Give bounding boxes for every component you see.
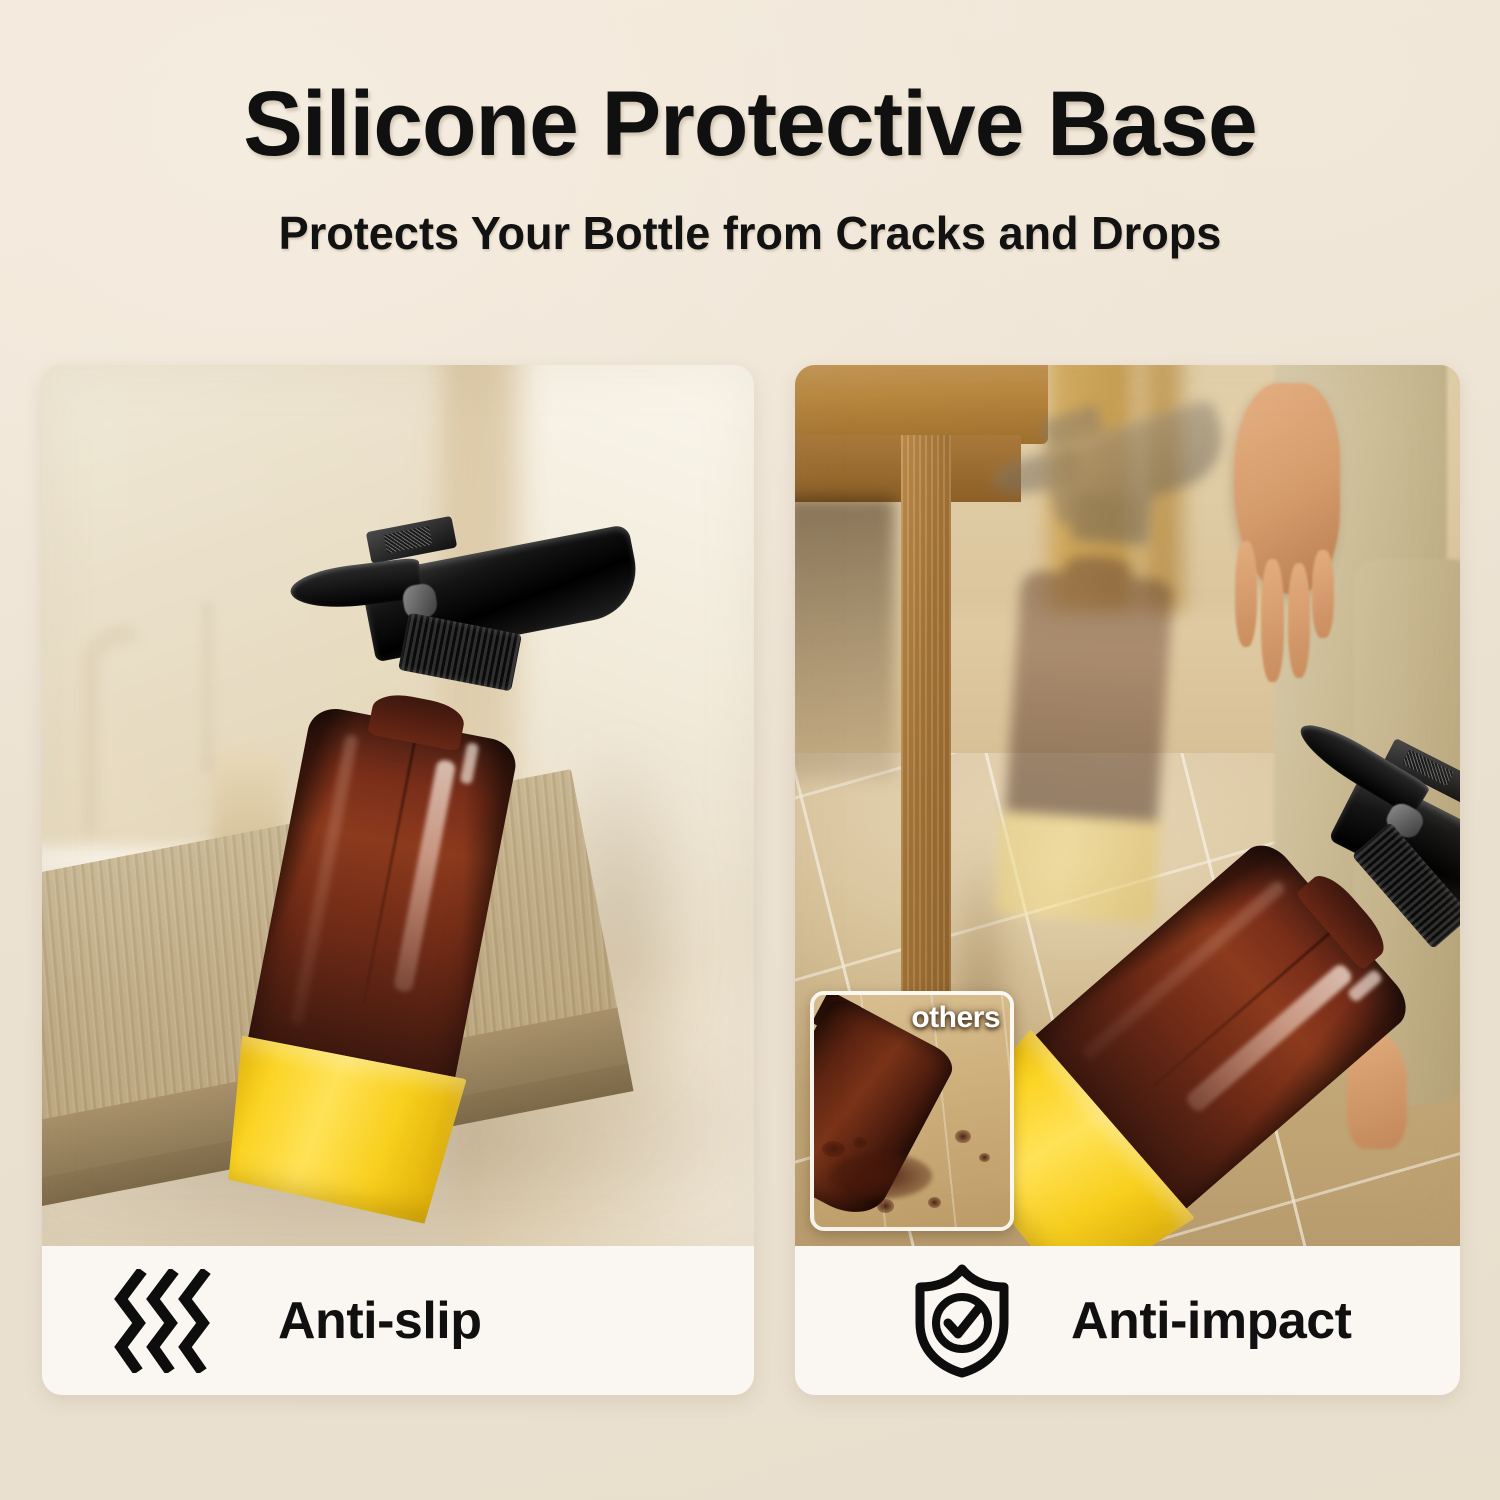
ghost-collar: [1071, 490, 1151, 546]
finger-1: [1235, 541, 1258, 647]
comparison-inset-others[interactable]: others: [810, 991, 1014, 1231]
falling-bottle-motion-ghost: [978, 420, 1211, 926]
ghost-bottle-body: [1004, 569, 1173, 835]
spill-main: [830, 1153, 932, 1199]
page-subtitle: Protects Your Bottle from Cracks and Dro…: [15, 206, 1485, 260]
feature-label-anti-slip: Anti-slip: [42, 1246, 754, 1395]
infographic-stage: Silicone Protective Base Protects Your B…: [0, 0, 1500, 1500]
feature-label-text-right: Anti-impact: [1071, 1291, 1352, 1351]
finger-2: [1261, 559, 1284, 682]
photo-anti-impact: others: [795, 365, 1460, 1246]
finger-3: [1288, 563, 1311, 678]
shield-check-icon: [887, 1263, 1037, 1379]
page-title: Silicone Protective Base: [23, 72, 1478, 177]
feature-label-anti-impact: Anti-impact: [795, 1246, 1460, 1395]
zigzag-wave-icon: [94, 1269, 244, 1373]
faucet-icon: [85, 629, 135, 834]
inset-label-others: others: [911, 1001, 1000, 1035]
feature-card-anti-slip[interactable]: Anti-slip: [42, 365, 754, 1395]
photo-anti-slip: [42, 365, 754, 1246]
ghost-bottle-glass: [1004, 569, 1173, 835]
finger-4: [1312, 550, 1333, 638]
spill-drop-5: [955, 1130, 971, 1144]
trigger-sprayer-head: [310, 524, 611, 743]
feature-label-text: Anti-slip: [278, 1291, 481, 1351]
feature-card-anti-impact[interactable]: others Anti-impact: [795, 365, 1460, 1395]
table-underside-shadow: [795, 497, 895, 779]
table-top: [795, 365, 1048, 444]
spill-drop-2: [853, 1137, 867, 1149]
